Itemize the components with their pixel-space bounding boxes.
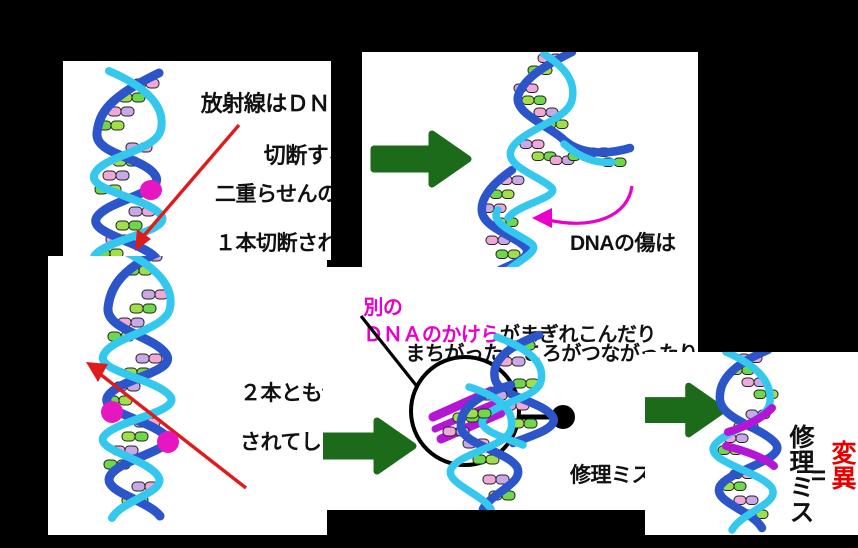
p1-caption: 二重らせんのうち １本切断された だけだと: [183, 158, 331, 260]
panel-misrepair-occurs: 別の ＤＮＡのかけらがまぎれこんだり まちがったところがつながったり: [323, 267, 698, 510]
break-marker-single: [137, 176, 165, 204]
panel-radiation-cuts-dna: 放射線はＤＮＡを 切断する 二重らせんのうち １本切断された だけだと: [63, 61, 331, 260]
panel-mutation-result: 修理ミス = 変異: [645, 352, 858, 535]
figure-root: 放射線はＤＮＡを 切断する 二重らせんのうち １本切断された だけだと: [0, 0, 858, 548]
panel-double-strand-break: ２本とも切断 されてしまうと: [48, 256, 327, 535]
p5-equals: =: [811, 460, 826, 491]
p2-caption: DNAの傷は ほとんどなおる: [538, 207, 698, 267]
arrow-right-2: [323, 417, 415, 475]
break-marker-double: [98, 386, 218, 476]
p3-caption: ２本とも切断 されてしまうと: [208, 357, 327, 481]
p5-label-left: 修理ミス: [787, 424, 812, 524]
dna-fragment-lower: [435, 385, 550, 510]
arrow-right-1: [374, 130, 470, 188]
p5-label-right: 変異: [829, 440, 854, 490]
panel-dna-repairs-itself: DNAの傷は ほとんどなおる: [362, 52, 698, 267]
